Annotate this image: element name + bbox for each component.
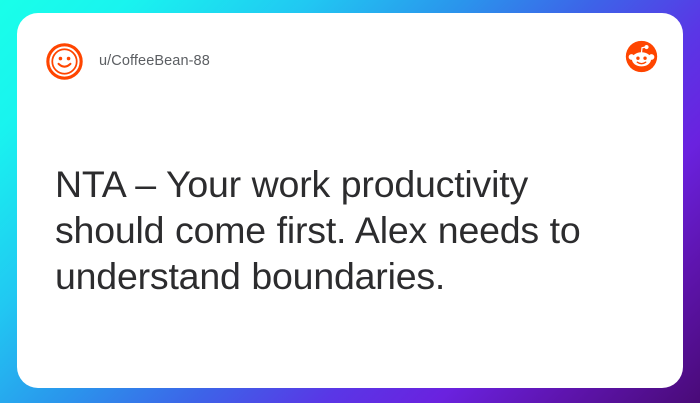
- screenshot-stage: u/CoffeeBean-88 NTA – Your work producti…: [0, 0, 700, 403]
- card-header: u/CoffeeBean-88: [46, 38, 658, 84]
- smiley-face-avatar-icon: [46, 43, 83, 80]
- reddit-snoo-logo-icon: [625, 40, 658, 73]
- post-text: NTA – Your work productivity should come…: [55, 161, 647, 299]
- reddit-comment-card: u/CoffeeBean-88 NTA – Your work producti…: [17, 13, 683, 388]
- username-label: u/CoffeeBean-88: [99, 53, 210, 69]
- card-body: NTA – Your work productivity should come…: [55, 161, 647, 299]
